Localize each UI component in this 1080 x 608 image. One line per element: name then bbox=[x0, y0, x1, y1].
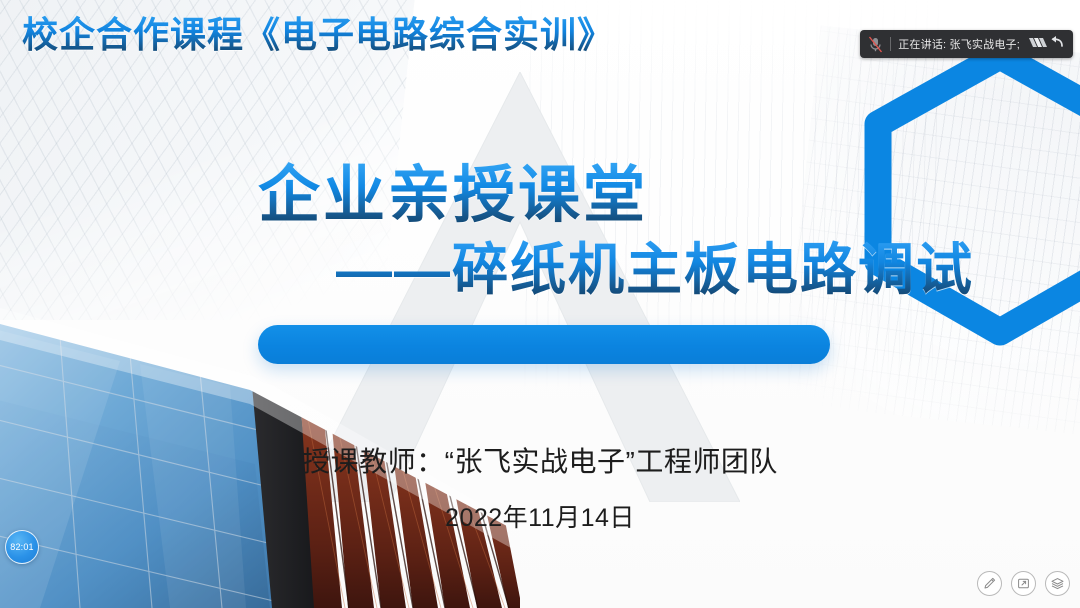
document-share-icon bbox=[1017, 577, 1030, 590]
back-arrow-icon[interactable] bbox=[1050, 35, 1064, 54]
slide-kicker: 校企合作课程《电子电路综合实训》 bbox=[22, 12, 614, 57]
speaking-label: 正在讲话: 张飞实战电子; bbox=[898, 36, 1020, 52]
pen-icon bbox=[983, 577, 996, 590]
architecture-photo bbox=[0, 268, 520, 608]
timer-badge[interactable]: 82:01 bbox=[5, 530, 39, 564]
credit-teacher: 授课教师：“张飞实战电子”工程师团队 bbox=[0, 440, 1080, 480]
layers-button[interactable] bbox=[1045, 571, 1070, 596]
page-subtitle: ——碎纸机主板电路调试 bbox=[336, 238, 974, 302]
layers-icon bbox=[1051, 577, 1064, 590]
timer-value: 82:01 bbox=[10, 542, 34, 552]
presentation-slide: 校企合作课程《电子电路综合实训》 企业亲授课堂 ——碎纸机主板电路调试 授课教师… bbox=[0, 0, 1080, 608]
annotate-pen-button[interactable] bbox=[977, 571, 1002, 596]
indicator-divider bbox=[890, 37, 891, 51]
mic-muted-icon[interactable] bbox=[868, 36, 883, 53]
blue-accent-bar bbox=[258, 325, 830, 364]
indicator-icon-group bbox=[1029, 35, 1064, 54]
slide-toolbar bbox=[977, 571, 1070, 596]
page-title: 企业亲授课堂 bbox=[258, 160, 648, 231]
share-document-button[interactable] bbox=[1011, 571, 1036, 596]
hexagon-graphic bbox=[850, 44, 1080, 374]
credit-date: 2022年11月14日 bbox=[0, 498, 1080, 534]
signal-bars-icon[interactable] bbox=[1029, 35, 1047, 54]
speaking-indicator[interactable]: 正在讲话: 张飞实战电子; bbox=[860, 30, 1073, 58]
